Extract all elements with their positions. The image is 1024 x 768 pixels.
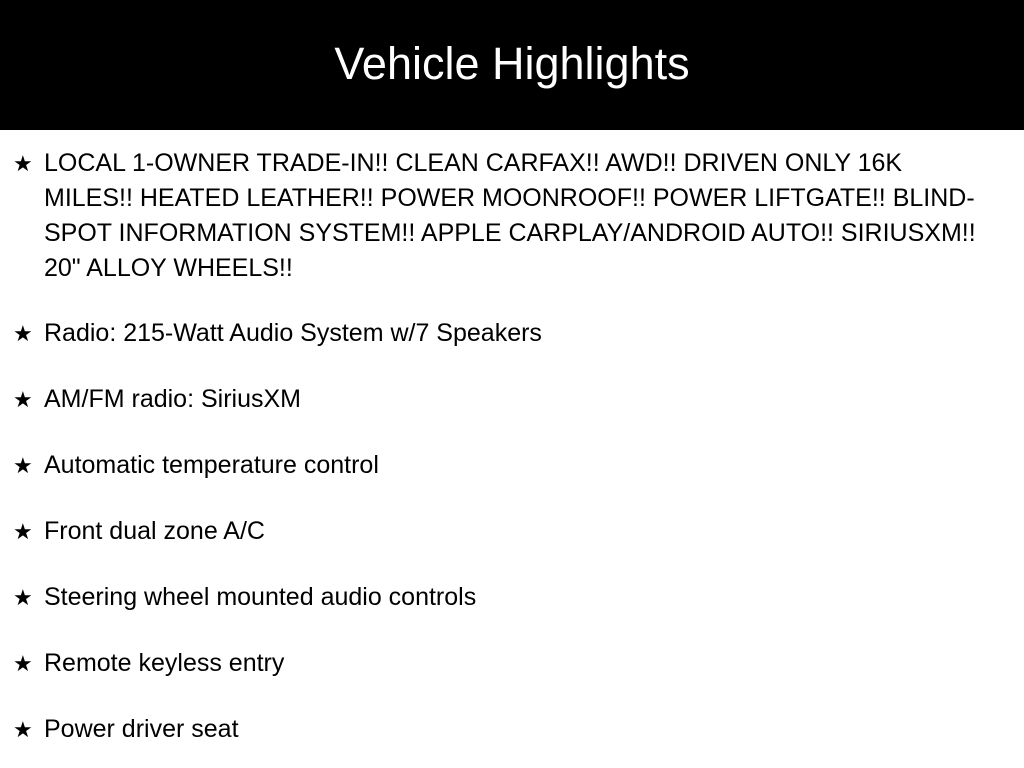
list-item-label: Automatic temperature control [44,448,986,483]
list-item-label: Remote keyless entry [44,646,986,681]
star-bullet-icon: ★ [13,316,35,351]
list-item-label: Front dual zone A/C [44,514,986,549]
star-bullet-icon: ★ [13,712,35,747]
star-bullet-icon: ★ [13,448,35,483]
star-bullet-icon: ★ [13,382,35,417]
list-item-label: LOCAL 1-OWNER TRADE-IN!! CLEAN CARFAX!! … [44,146,986,286]
star-bullet-icon: ★ [13,646,35,681]
list-item: ★ Front dual zone A/C [0,514,1024,549]
list-item-label: Radio: 215-Watt Audio System w/7 Speaker… [44,316,986,351]
page-title: Vehicle Highlights [334,41,689,90]
list-item-label: Steering wheel mounted audio controls [44,580,986,615]
list-item: ★ Steering wheel mounted audio controls [0,580,1024,615]
list-item: ★ Radio: 215-Watt Audio System w/7 Speak… [0,316,1024,351]
highlights-list: ★ LOCAL 1-OWNER TRADE-IN!! CLEAN CARFAX!… [0,130,1024,747]
list-item: ★ AM/FM radio: SiriusXM [0,382,1024,417]
list-item: ★ Remote keyless entry [0,646,1024,681]
vehicle-highlights-page: Vehicle Highlights ★ LOCAL 1-OWNER TRADE… [0,0,1024,768]
star-bullet-icon: ★ [13,146,35,181]
list-item: ★ LOCAL 1-OWNER TRADE-IN!! CLEAN CARFAX!… [0,146,1024,286]
list-item: ★ Power driver seat [0,712,1024,747]
list-item: ★ Automatic temperature control [0,448,1024,483]
list-item-label: AM/FM radio: SiriusXM [44,382,986,417]
star-bullet-icon: ★ [13,514,35,549]
star-bullet-icon: ★ [13,580,35,615]
page-header: Vehicle Highlights [0,0,1024,130]
list-item-label: Power driver seat [44,712,986,747]
